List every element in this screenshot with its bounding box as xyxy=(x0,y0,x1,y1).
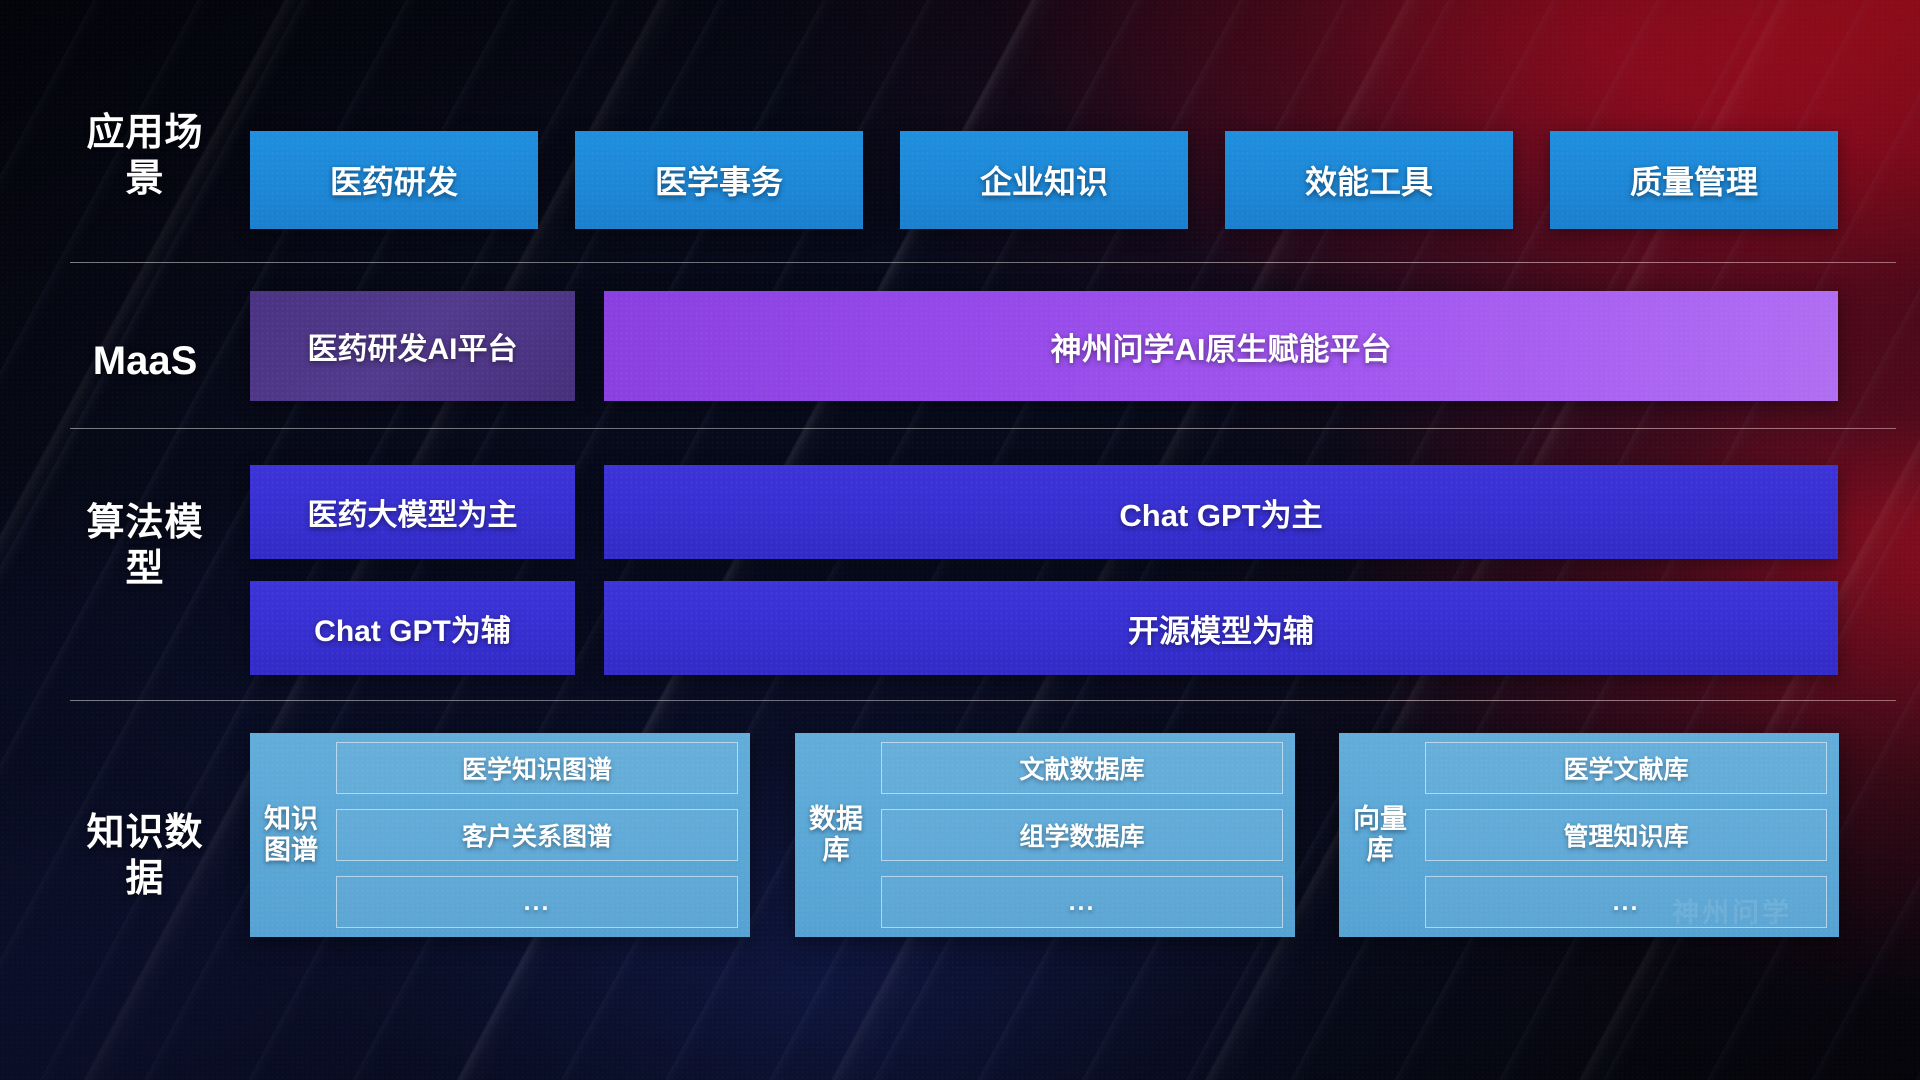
app-scenario-box-1[interactable]: 医药研发 xyxy=(250,131,538,229)
algo-model-box-secondary-right[interactable]: 开源模型为辅 xyxy=(604,581,1838,675)
maas-platform-label-right: 神州问学AI原生赋能平台 xyxy=(1051,324,1392,369)
algo-model-label-primary-right: Chat GPT为主 xyxy=(1119,490,1322,535)
maas-platform-box-right[interactable]: 神州问学AI原生赋能平台 xyxy=(604,291,1838,401)
knowledge-item-database-1[interactable]: 文献数据库 xyxy=(881,742,1283,794)
knowledge-item-graph-1[interactable]: 医学知识图谱 xyxy=(336,742,738,794)
row-label-knowledge-data: 知识数据 xyxy=(70,810,220,903)
knowledge-item-graph-3[interactable]: ... xyxy=(336,876,738,928)
divider-2 xyxy=(70,428,1896,429)
app-scenario-box-5[interactable]: 质量管理 xyxy=(1550,131,1838,229)
app-scenario-label-4: 效能工具 xyxy=(1305,157,1433,203)
maas-platform-label-left: 医药研发AI平台 xyxy=(308,324,518,368)
algo-model-label-primary-left: 医药大模型为主 xyxy=(308,490,518,534)
algo-model-label-secondary-right: 开源模型为辅 xyxy=(1128,606,1314,651)
maas-platform-box-left[interactable]: 医药研发AI平台 xyxy=(250,291,575,401)
algo-model-box-primary-right[interactable]: Chat GPT为主 xyxy=(604,465,1838,559)
algo-model-box-secondary-left[interactable]: Chat GPT为辅 xyxy=(250,581,575,675)
app-scenario-box-3[interactable]: 企业知识 xyxy=(900,131,1188,229)
slide-canvas: 应用场景 医药研发 医学事务 企业知识 效能工具 质量管理 MaaS 医药研发A… xyxy=(0,0,1920,1080)
app-scenario-box-2[interactable]: 医学事务 xyxy=(575,131,863,229)
knowledge-card-title-graph: 知识图谱 xyxy=(260,742,322,928)
divider-1 xyxy=(70,262,1896,263)
row-label-algorithm-models: 算法模型 xyxy=(70,500,220,593)
knowledge-item-vector-1[interactable]: 医学文献库 xyxy=(1425,742,1827,794)
app-scenario-label-5: 质量管理 xyxy=(1630,157,1758,203)
app-scenario-box-4[interactable]: 效能工具 xyxy=(1225,131,1513,229)
knowledge-item-vector-2[interactable]: 管理知识库 xyxy=(1425,809,1827,861)
knowledge-item-database-3[interactable]: ... xyxy=(881,876,1283,928)
knowledge-item-graph-2[interactable]: 客户关系图谱 xyxy=(336,809,738,861)
divider-3 xyxy=(70,700,1896,701)
knowledge-card-title-vector: 向量库 xyxy=(1349,742,1411,928)
knowledge-card-vector[interactable]: 向量库 医学文献库 管理知识库 ... xyxy=(1339,733,1839,937)
row-label-maas: MaaS xyxy=(70,337,220,386)
row-label-application-scenarios: 应用场景 xyxy=(70,110,220,203)
knowledge-card-items-graph: 医学知识图谱 客户关系图谱 ... xyxy=(336,742,738,928)
knowledge-item-vector-3[interactable]: ... xyxy=(1425,876,1827,928)
app-scenario-label-1: 医药研发 xyxy=(330,157,458,203)
knowledge-item-database-2[interactable]: 组学数据库 xyxy=(881,809,1283,861)
knowledge-card-graph[interactable]: 知识图谱 医学知识图谱 客户关系图谱 ... xyxy=(250,733,750,937)
app-scenario-label-3: 企业知识 xyxy=(980,157,1108,203)
knowledge-card-title-database: 数据库 xyxy=(805,742,867,928)
knowledge-card-database[interactable]: 数据库 文献数据库 组学数据库 ... xyxy=(795,733,1295,937)
knowledge-card-items-database: 文献数据库 组学数据库 ... xyxy=(881,742,1283,928)
algo-model-label-secondary-left: Chat GPT为辅 xyxy=(314,606,511,650)
knowledge-card-items-vector: 医学文献库 管理知识库 ... xyxy=(1425,742,1827,928)
app-scenario-label-2: 医学事务 xyxy=(655,157,783,203)
algo-model-box-primary-left[interactable]: 医药大模型为主 xyxy=(250,465,575,559)
